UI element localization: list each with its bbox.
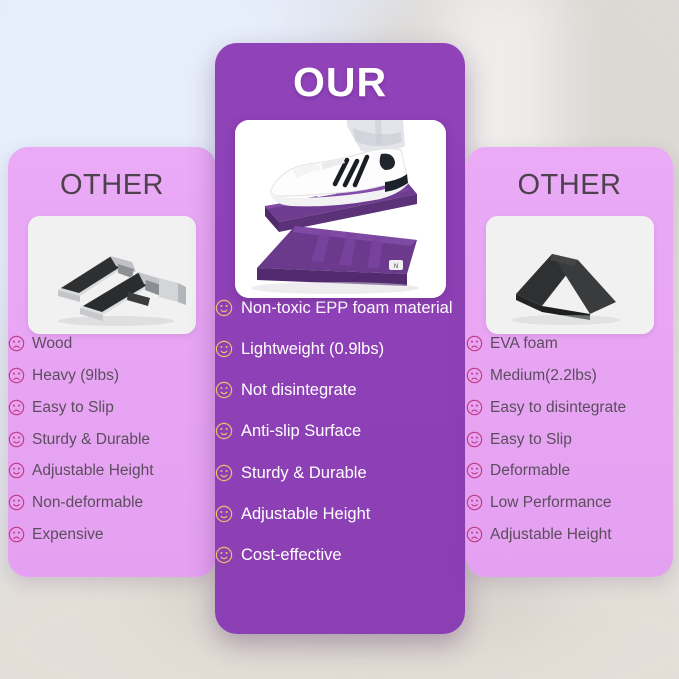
happy-face-icon xyxy=(215,546,233,564)
right-feature-item: Deformable xyxy=(466,461,673,479)
left-feature-item: Wood xyxy=(8,334,216,352)
feature-label: Deformable xyxy=(490,461,570,479)
happy-face-icon xyxy=(215,464,233,482)
center-feature-item: Lightweight (0.9lbs) xyxy=(215,339,465,359)
left-feature-list: WoodHeavy (9lbs)Easy to SlipSturdy & Dur… xyxy=(8,334,216,544)
center-panel-heading: OUR xyxy=(215,59,465,106)
feature-label: Wood xyxy=(32,334,72,352)
feature-label: Cost-effective xyxy=(241,545,342,565)
feature-label: Adjustable Height xyxy=(32,461,154,479)
comparison-card-center: OUR xyxy=(215,43,465,634)
left-panel-heading: OTHER xyxy=(8,169,216,202)
feature-label: Medium(2.2lbs) xyxy=(490,366,597,384)
feature-label: Sturdy & Durable xyxy=(32,430,150,448)
left-feature-item: Easy to Slip xyxy=(8,398,216,416)
comparison-card-right: OTHER EVA foamMedium(2.2lbs)Easy to disi… xyxy=(466,147,673,577)
feature-label: Lightweight (0.9lbs) xyxy=(241,339,384,359)
feature-label: Expensive xyxy=(32,525,104,543)
svg-text:N: N xyxy=(393,264,397,270)
happy-face-icon xyxy=(466,462,483,479)
right-feature-list: EVA foamMedium(2.2lbs)Easy to disintegra… xyxy=(466,334,673,544)
sad-face-icon xyxy=(8,526,25,543)
right-feature-item: Easy to disintegrate xyxy=(466,398,673,416)
feature-label: Adjustable Height xyxy=(490,525,612,543)
center-feature-list: Non-toxic EPP foam materialLightweight (… xyxy=(215,298,465,565)
feature-label: Anti-slip Surface xyxy=(241,421,361,441)
right-product-image xyxy=(486,216,654,334)
sad-face-icon xyxy=(466,335,483,352)
right-panel-heading: OTHER xyxy=(466,169,673,202)
sad-face-icon xyxy=(8,335,25,352)
purple-foam-slant-board-with-sneaker-illustration: N xyxy=(235,120,446,298)
right-feature-item: Adjustable Height xyxy=(466,525,673,543)
right-feature-item: Medium(2.2lbs) xyxy=(466,366,673,384)
black-and-silver-slant-board-pair-illustration xyxy=(28,216,196,334)
center-feature-item: Sturdy & Durable xyxy=(215,463,465,483)
happy-face-icon xyxy=(215,505,233,523)
feature-label: Sturdy & Durable xyxy=(241,463,367,483)
center-product-image: N xyxy=(235,120,446,298)
feature-label: EVA foam xyxy=(490,334,558,352)
left-feature-item: Expensive xyxy=(8,525,216,543)
left-feature-item: Heavy (9lbs) xyxy=(8,366,216,384)
feature-label: Not disintegrate xyxy=(241,380,357,400)
left-feature-item: Non-deformable xyxy=(8,493,216,511)
sad-face-icon xyxy=(8,367,25,384)
infographic-stage: OTHER xyxy=(0,0,679,679)
right-feature-item: Easy to Slip xyxy=(466,430,673,448)
happy-face-icon xyxy=(215,422,233,440)
feature-label: Non-deformable xyxy=(32,493,143,511)
happy-face-icon xyxy=(215,381,233,399)
center-feature-item: Non-toxic EPP foam material xyxy=(215,298,465,318)
comparison-card-left: OTHER xyxy=(8,147,216,577)
happy-face-icon xyxy=(466,494,483,511)
feature-label: Low Performance xyxy=(490,493,611,511)
feature-label: Non-toxic EPP foam material xyxy=(241,298,453,318)
sad-face-icon xyxy=(466,399,483,416)
happy-face-icon xyxy=(466,431,483,448)
sad-face-icon xyxy=(466,526,483,543)
right-feature-item: Low Performance xyxy=(466,493,673,511)
center-feature-item: Not disintegrate xyxy=(215,380,465,400)
happy-face-icon xyxy=(8,494,25,511)
feature-label: Adjustable Height xyxy=(241,504,370,524)
left-feature-item: Sturdy & Durable xyxy=(8,430,216,448)
center-feature-item: Adjustable Height xyxy=(215,504,465,524)
sad-face-icon xyxy=(466,367,483,384)
center-feature-item: Anti-slip Surface xyxy=(215,421,465,441)
happy-face-icon xyxy=(8,462,25,479)
left-feature-item: Adjustable Height xyxy=(8,461,216,479)
feature-label: Easy to Slip xyxy=(490,430,572,448)
black-foam-wedge-illustration xyxy=(486,216,654,334)
center-feature-item: Cost-effective xyxy=(215,545,465,565)
sad-face-icon xyxy=(8,399,25,416)
feature-label: Heavy (9lbs) xyxy=(32,366,119,384)
happy-face-icon xyxy=(215,340,233,358)
left-product-image xyxy=(28,216,196,334)
feature-label: Easy to disintegrate xyxy=(490,398,626,416)
happy-face-icon xyxy=(8,431,25,448)
right-feature-item: EVA foam xyxy=(466,334,673,352)
feature-label: Easy to Slip xyxy=(32,398,114,416)
happy-face-icon xyxy=(215,299,233,317)
